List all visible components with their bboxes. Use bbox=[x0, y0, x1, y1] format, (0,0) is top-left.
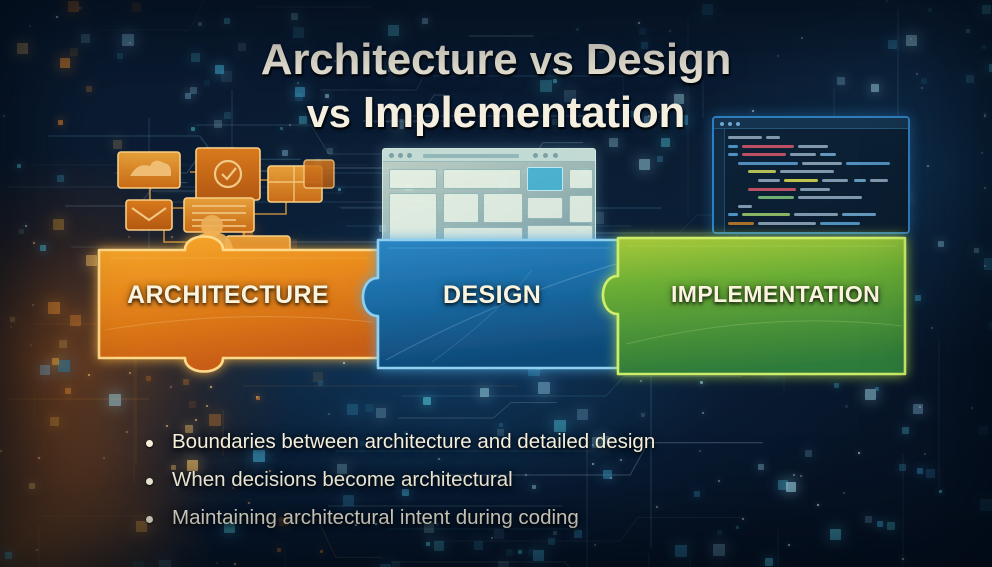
list-item: When decisions become architectural bbox=[140, 461, 655, 499]
list-item: Maintaining architectural intent during … bbox=[140, 499, 655, 537]
list-item: Boundaries between architecture and deta… bbox=[140, 423, 655, 461]
puzzle-label-architecture: ARCHITECTURE bbox=[127, 281, 329, 310]
code-line-token bbox=[738, 162, 798, 165]
code-line-token bbox=[854, 179, 866, 182]
ui-wireframe-graphic bbox=[382, 148, 596, 266]
code-line-token bbox=[780, 170, 834, 173]
code-line-token bbox=[802, 162, 842, 165]
code-line-token bbox=[842, 213, 876, 216]
code-line-token bbox=[790, 153, 816, 156]
code-line-token bbox=[728, 222, 754, 225]
code-line-token bbox=[758, 179, 780, 182]
title-line-2: vs Implementation bbox=[0, 87, 992, 140]
code-line-token bbox=[798, 196, 862, 199]
code-line-token bbox=[728, 213, 738, 216]
code-line-token bbox=[820, 222, 860, 225]
code-line-token bbox=[742, 153, 786, 156]
code-line-token bbox=[758, 196, 794, 199]
architecture-diagram-graphic bbox=[104, 130, 336, 264]
puzzle-label-design: DESIGN bbox=[443, 281, 541, 310]
code-line-token bbox=[742, 213, 790, 216]
code-line-token bbox=[846, 162, 890, 165]
code-line-token bbox=[820, 153, 836, 156]
title-word-implementation: Implementation bbox=[363, 88, 685, 137]
code-line-token bbox=[728, 153, 738, 156]
title-word-vs-2: vs bbox=[307, 92, 351, 136]
code-line-token bbox=[748, 188, 796, 191]
code-line-token bbox=[870, 179, 888, 182]
code-line-token bbox=[738, 205, 752, 208]
code-line-token bbox=[742, 145, 794, 148]
slide-canvas: ARCHITECTURE DESIGN IMPLEMENTATION Archi… bbox=[0, 0, 992, 567]
puzzle-label-implementation: IMPLEMENTATION bbox=[671, 281, 880, 308]
title-word-architecture: Architecture bbox=[261, 35, 518, 84]
code-line-token bbox=[784, 179, 818, 182]
code-line-token bbox=[822, 179, 848, 182]
page-title: Architecture vs Design vs Implementation bbox=[0, 34, 992, 140]
title-word-design: Design bbox=[586, 35, 732, 84]
architecture-diagram-svg bbox=[104, 130, 336, 264]
code-line-token bbox=[748, 170, 776, 173]
code-line-token bbox=[758, 222, 816, 225]
code-line-token bbox=[798, 145, 828, 148]
bullet-list: Boundaries between architecture and deta… bbox=[140, 423, 655, 537]
title-line-1: Architecture vs Design bbox=[0, 34, 992, 87]
title-word-vs-1: vs bbox=[530, 39, 574, 83]
code-line-token bbox=[794, 213, 838, 216]
code-line-token bbox=[728, 145, 738, 148]
code-line-token bbox=[800, 188, 830, 191]
wireframe-titlebar bbox=[383, 149, 595, 162]
